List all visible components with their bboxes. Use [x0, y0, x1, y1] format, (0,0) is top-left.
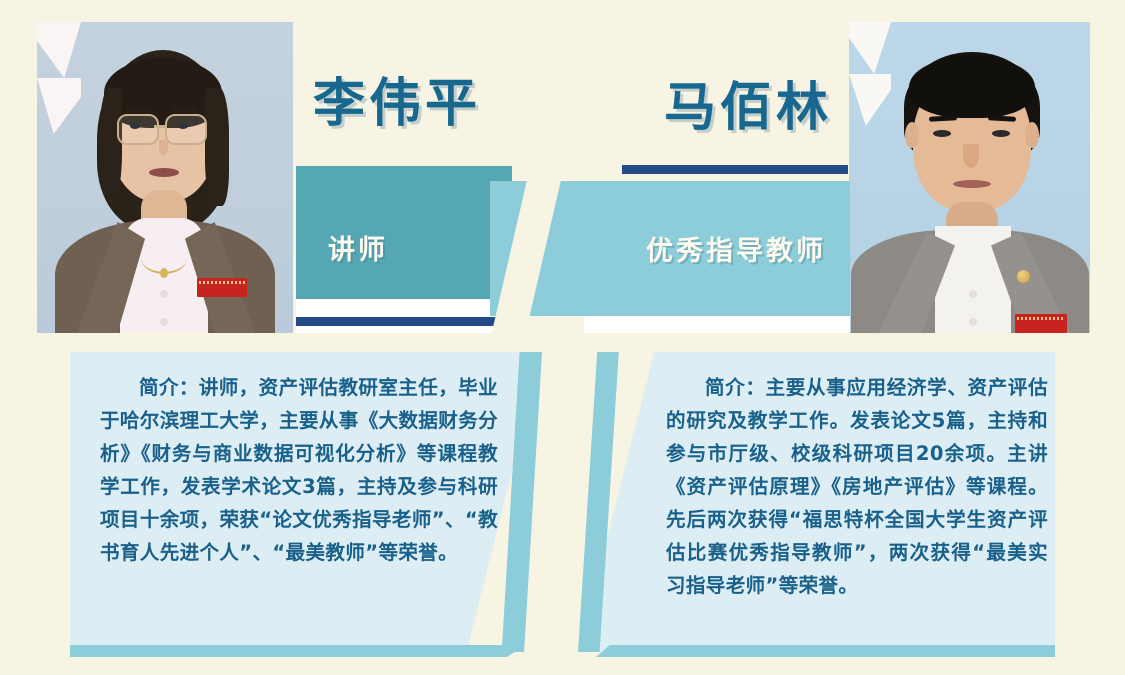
necklace-pendant [160, 268, 168, 278]
description-text-right: 简介：主要从事应用经济学、资产评估的研究及教学工作。发表论文5篇，主持和参与市厅… [666, 371, 1048, 602]
navy-bar-left [296, 317, 499, 326]
eyeglasses-right-lens [165, 114, 207, 145]
nose [963, 144, 979, 168]
description-underline-right [596, 645, 1055, 657]
ear-left [905, 122, 919, 148]
shirt-button-2 [160, 318, 168, 326]
name-badge [1015, 314, 1067, 333]
nose [159, 140, 168, 156]
description-text-left: 简介：讲师，资产评估教研室主任，毕业于哈尔滨理工大学，主要从事《大数据财务分析》… [100, 371, 498, 569]
eye-left [933, 130, 951, 137]
ear-right [1025, 122, 1039, 148]
name-underline-right [622, 165, 848, 174]
profile-title-right: 优秀指导教师 [646, 229, 826, 268]
eyeglasses-bridge [154, 125, 166, 128]
eye-left [130, 123, 140, 129]
hair-right [205, 88, 229, 206]
portrait-photo-li-weiping [37, 22, 293, 333]
hair-left [100, 88, 122, 198]
title-panel-right-gap [584, 316, 850, 333]
lapel-pin-icon [1017, 270, 1030, 283]
name-badge [197, 278, 247, 297]
shirt-button-1 [160, 290, 168, 298]
description-underline-left [70, 645, 525, 657]
eye-right [178, 123, 188, 129]
profile-title-left: 讲师 [328, 228, 388, 267]
profile-name-right: 马佰林 [664, 82, 832, 134]
shirt-button-2 [969, 318, 977, 326]
hair-top [909, 56, 1035, 118]
profile-name-left: 李伟平 [313, 78, 481, 130]
shirt-button-1 [969, 290, 977, 298]
eye-right [992, 130, 1010, 137]
poster-canvas: 李伟平 马佰林 讲师 优秀指导教师 简介：讲师，资产评估教研室主任，毕业于哈尔滨… [0, 0, 1125, 675]
mouth [149, 168, 179, 177]
title-panel-left-gap [296, 299, 512, 333]
mouth [953, 180, 991, 188]
eyeglasses-left-lens [117, 114, 159, 145]
portrait-photo-ma-bailin [849, 22, 1090, 333]
